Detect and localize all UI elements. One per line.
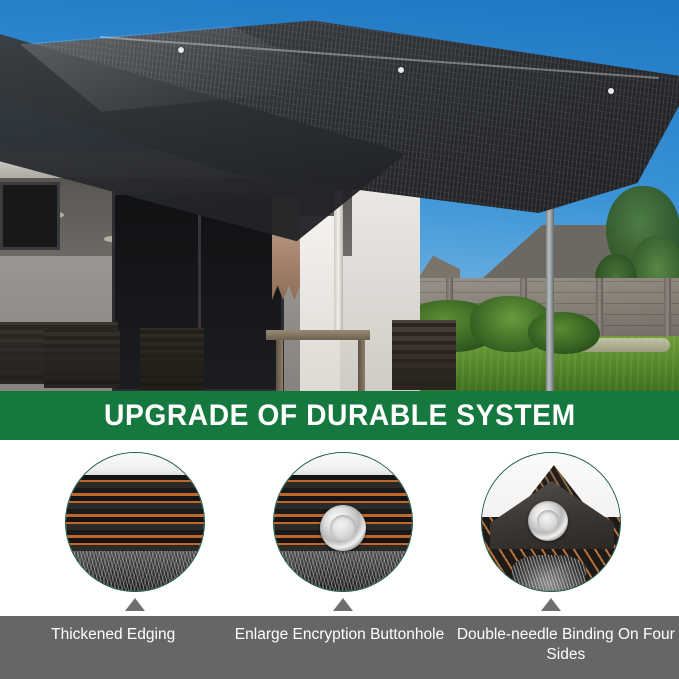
grommet-icon xyxy=(528,501,568,541)
grommet-icon xyxy=(320,505,366,551)
patio-post xyxy=(334,190,343,338)
headline-banner: UPGRADE OF DURABLE SYSTEM xyxy=(0,391,679,440)
fabric-stripes xyxy=(66,475,204,559)
hero-photo xyxy=(0,0,679,392)
caption-cell: Thickened Edging xyxy=(0,616,226,679)
triangle-up-icon xyxy=(541,598,561,611)
support-pole xyxy=(546,180,554,392)
corner-fabric-texture xyxy=(512,555,586,591)
fabric-top-edge xyxy=(66,453,204,477)
outdoor-chair xyxy=(44,330,120,388)
feature-circles xyxy=(0,440,679,616)
table-leg xyxy=(276,340,283,392)
caption-cell: Double-needle Binding On Four Sides xyxy=(453,616,679,679)
feature-circle-thickened-edging xyxy=(65,452,205,592)
window xyxy=(0,182,60,250)
table-leg xyxy=(358,340,365,392)
feature-circle-double-needle-binding xyxy=(481,452,621,592)
grommet-inner-ring xyxy=(537,510,559,532)
grommet-inner-ring xyxy=(330,515,356,541)
sail-grommet-icon xyxy=(178,47,184,53)
caption-buttonhole: Enlarge Encryption Buttonhole xyxy=(235,625,444,645)
caption-thickened-edging: Thickened Edging xyxy=(51,625,175,645)
fabric-mesh-weave xyxy=(66,551,204,591)
caption-bar: Thickened Edging Enlarge Encryption Butt… xyxy=(0,616,679,679)
headline-text: UPGRADE OF DURABLE SYSTEM xyxy=(104,399,576,433)
sail-grommet-icon xyxy=(608,88,614,94)
triangle-up-icon xyxy=(125,598,145,611)
caption-double-needle-binding: Double-needle Binding On Four Sides xyxy=(453,625,679,665)
caption-cell: Enlarge Encryption Buttonhole xyxy=(226,616,452,679)
product-feature-image: UPGRADE OF DURABLE SYSTEM xyxy=(0,0,679,679)
sail-grommet-icon xyxy=(398,67,404,73)
feature-circle-buttonhole xyxy=(273,452,413,592)
fabric-mesh-weave xyxy=(274,551,412,591)
fabric-top-edge xyxy=(274,453,412,477)
outdoor-table xyxy=(266,330,370,340)
outdoor-chair xyxy=(140,328,204,390)
garden-shrub xyxy=(528,312,600,354)
triangle-up-icon xyxy=(333,598,353,611)
outdoor-chair xyxy=(392,320,456,390)
